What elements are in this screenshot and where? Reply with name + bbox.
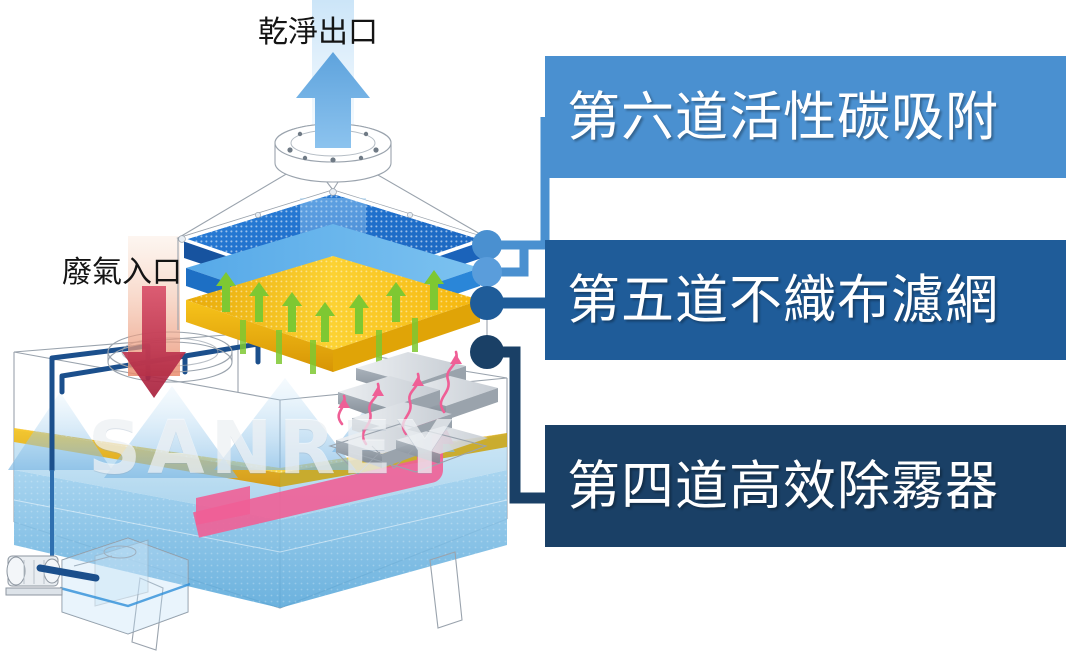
callout-stage-6[interactable]: 第六道活性碳吸附 — [545, 56, 1066, 178]
exhaust-inlet-label: 廢氣入口 — [62, 258, 182, 288]
diagram-canvas: SANREY 乾淨出口 廢氣入口 第六道活性碳吸附 第五道不織布濾網 第四道高效… — [0, 0, 1066, 664]
callout-stage-4-label: 第四道高效除霧器 — [567, 460, 999, 513]
connector-dot-stage-6a — [472, 230, 502, 260]
connector-dot-stage-5 — [470, 286, 504, 320]
connector-dot-stage-4 — [470, 335, 504, 369]
connector-dot-stage-6b — [472, 257, 502, 287]
circulation-pump — [6, 556, 62, 595]
connector-line-stage-6 — [487, 117, 545, 245]
callout-stage-5-label: 第五道不織布濾網 — [567, 274, 999, 327]
callout-stage-6-label: 第六道活性碳吸附 — [567, 91, 999, 144]
callout-stage-4[interactable]: 第四道高效除霧器 — [545, 425, 1066, 547]
clean-outlet-label: 乾淨出口 — [258, 18, 378, 48]
callout-stage-5[interactable]: 第五道不織布濾網 — [545, 240, 1066, 360]
callout-connector-dots — [470, 230, 504, 369]
filter-module-assembly — [178, 0, 498, 474]
